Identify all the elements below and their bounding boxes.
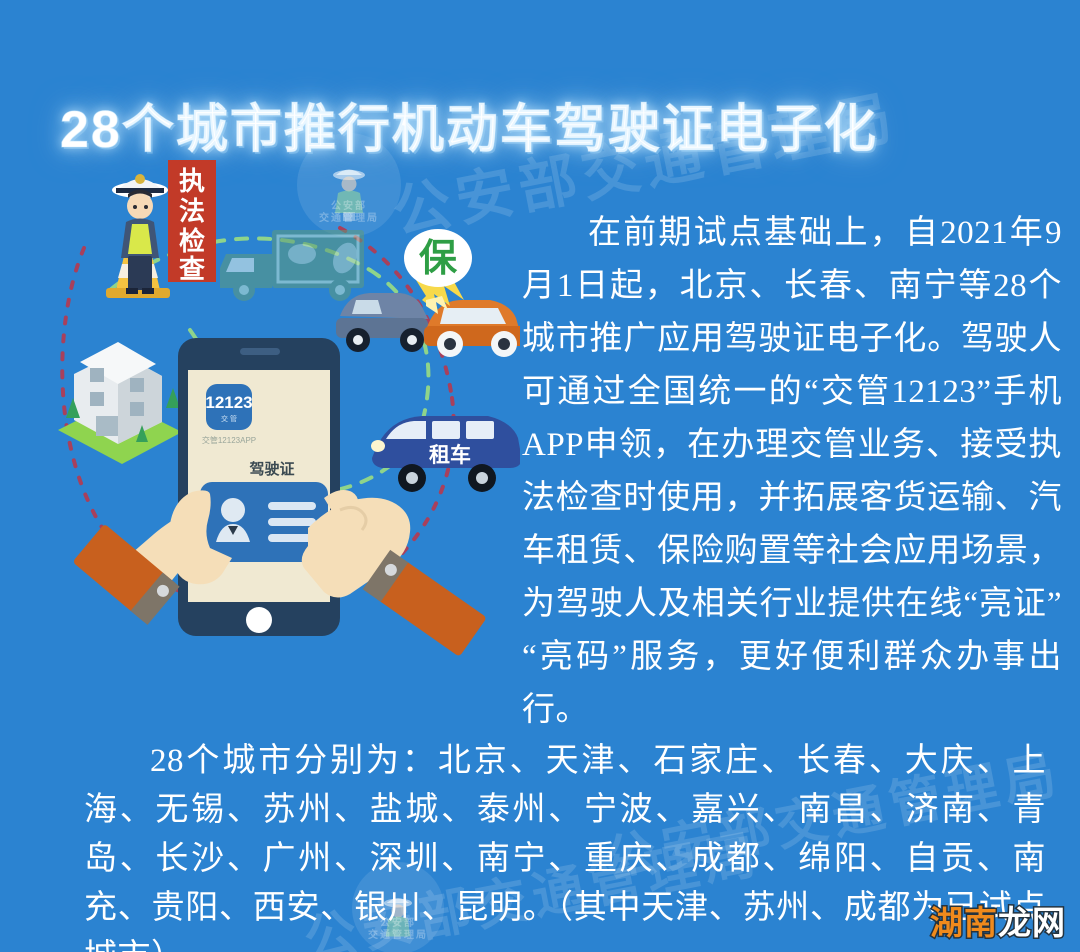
app-icon-12123[interactable]: 12123 交 管 交管12123APP bbox=[202, 384, 256, 445]
government-building-icon bbox=[58, 342, 182, 464]
svg-text:执: 执 bbox=[179, 166, 205, 196]
svg-text:交管12123APP: 交管12123APP bbox=[202, 435, 256, 445]
insurance-bubble: 保 bbox=[404, 229, 472, 287]
infographic-poster: 公安部交通管理局 公安部交通管理局 公安部交通管理局 公安部 交通管理局 公安部… bbox=[0, 0, 1080, 952]
source-logo-part-orange: 湖南 bbox=[930, 904, 998, 941]
source-logo-part-white: 龙网 bbox=[998, 904, 1066, 941]
svg-text:交 管: 交 管 bbox=[221, 414, 237, 423]
cities-paragraph: 28个城市分别为：北京、天津、石家庄、长春、大庆、上海、无锡、苏州、盐城、泰州、… bbox=[84, 737, 1046, 952]
source-logo: 湖南龙网 bbox=[930, 902, 1066, 944]
illustration-scene: 执 法 检 查 bbox=[40, 130, 520, 660]
svg-text:检: 检 bbox=[179, 226, 205, 256]
svg-text:12123: 12123 bbox=[205, 393, 252, 412]
svg-text:租车: 租车 bbox=[429, 443, 471, 467]
svg-text:驾驶证: 驾驶证 bbox=[249, 460, 294, 478]
smartphone: 12123 交 管 交管12123APP 驾驶证 bbox=[178, 338, 340, 636]
svg-text:法: 法 bbox=[179, 196, 205, 226]
rental-van-icon: 租车 bbox=[371, 416, 520, 492]
intro-paragraph: 在前期试点基础上，自2021年9月1日起，北京、长春、南宁等28个城市推广应用驾… bbox=[522, 207, 1062, 737]
svg-text:保: 保 bbox=[419, 238, 458, 280]
enforcement-banner: 执 法 检 查 bbox=[168, 160, 216, 284]
svg-text:查: 查 bbox=[179, 254, 205, 284]
